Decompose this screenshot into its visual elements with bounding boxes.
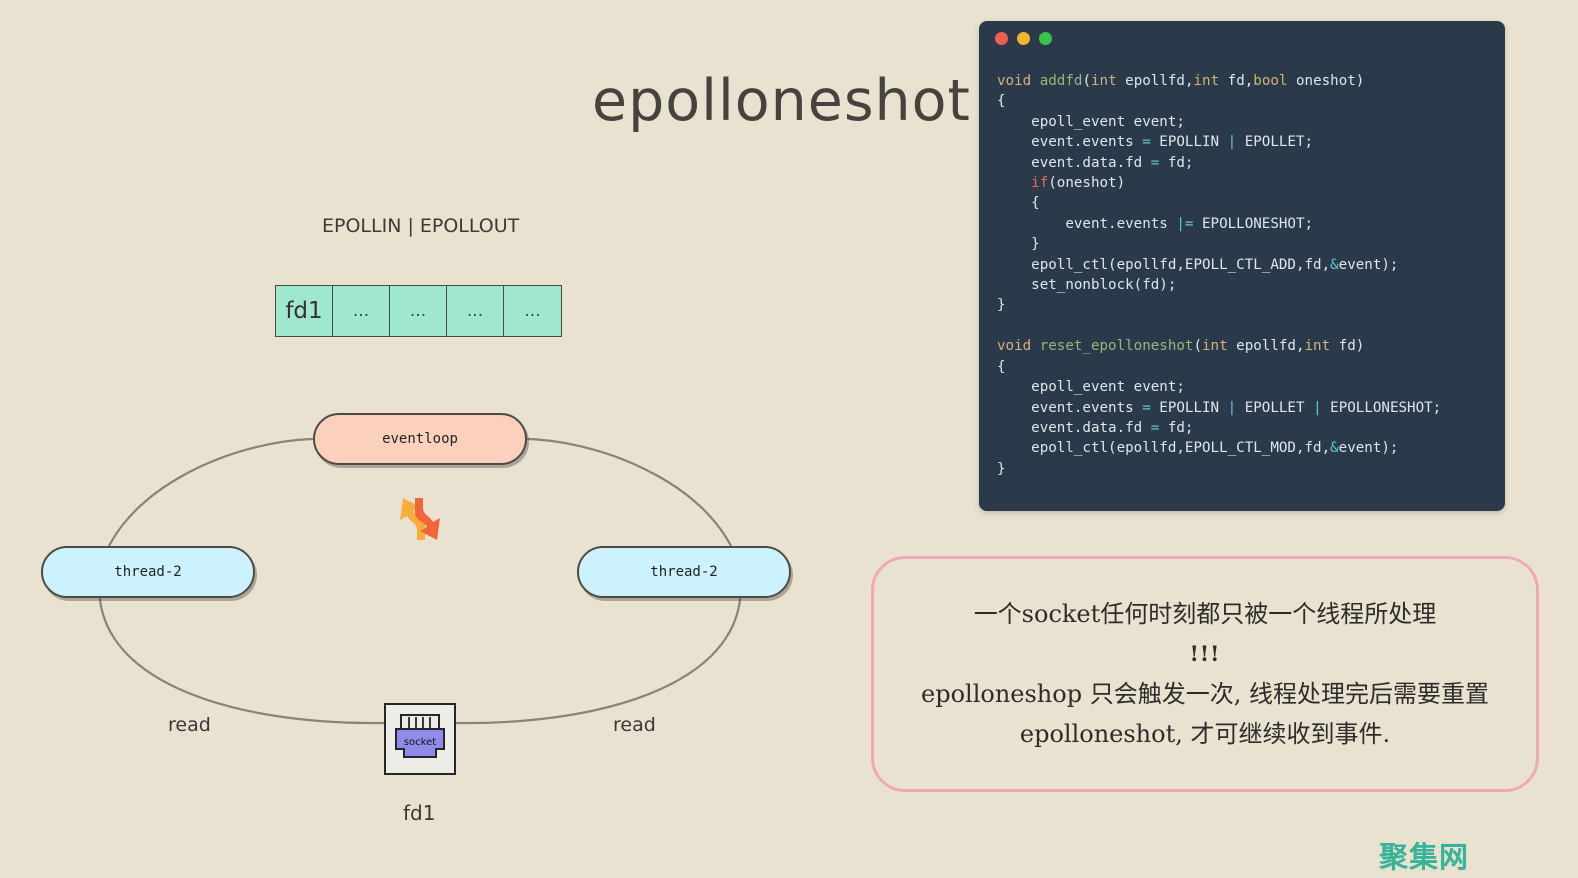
edge-label-read-right: read bbox=[613, 714, 656, 736]
fd-array-cell: ... bbox=[333, 286, 390, 336]
fd-array-cell: ... bbox=[447, 286, 504, 336]
code-line: } bbox=[997, 459, 1505, 479]
fd-array-cell: ... bbox=[390, 286, 447, 336]
code-line: event.data.fd = fd; bbox=[997, 418, 1505, 438]
maximize-button[interactable] bbox=[1039, 32, 1052, 45]
page-title: epolloneshot bbox=[592, 68, 971, 134]
node-thread-left[interactable]: thread-2 bbox=[41, 546, 255, 598]
code-line: epoll_ctl(epollfd,EPOLL_CTL_ADD,fd,&even… bbox=[997, 255, 1505, 275]
node-eventloop[interactable]: eventloop bbox=[313, 413, 527, 465]
code-line: event.events = EPOLLIN | EPOLLET; bbox=[997, 132, 1505, 152]
code-window: void addfd(int epollfd,int fd,bool onesh… bbox=[979, 21, 1505, 511]
socket-caption: fd1 bbox=[403, 801, 435, 825]
watermark: 聚集网 bbox=[1379, 834, 1469, 876]
code-line: } bbox=[997, 234, 1505, 254]
code-line: } bbox=[997, 295, 1505, 315]
note-line-4: epolloneshot, 才可继续收到事件. bbox=[1020, 717, 1390, 751]
fd-array-cell: fd1 bbox=[276, 286, 333, 336]
code-line: { bbox=[997, 357, 1505, 377]
note-line-1: 一个socket任何时刻都只被一个线程所处理 bbox=[974, 597, 1437, 631]
fd-array-cell: ... bbox=[504, 286, 561, 336]
fd-array: fd1............ bbox=[275, 285, 562, 337]
code-window-titlebar bbox=[979, 21, 1505, 55]
close-button[interactable] bbox=[995, 32, 1008, 45]
note-line-3: epolloneshop 只会触发一次, 线程处理完后需要重置 bbox=[921, 677, 1489, 711]
node-thread-right[interactable]: thread-2 bbox=[577, 546, 791, 598]
code-line bbox=[997, 316, 1505, 336]
code-line: epoll_event event; bbox=[997, 377, 1505, 397]
socket-icon-text: socket bbox=[404, 737, 436, 748]
node-eventloop-label: eventloop bbox=[382, 431, 458, 447]
events-flags-label: EPOLLIN | EPOLLOUT bbox=[322, 215, 519, 237]
refresh-loop-icon bbox=[393, 492, 447, 546]
code-line: epoll_event event; bbox=[997, 112, 1505, 132]
node-thread-left-label: thread-2 bbox=[114, 564, 181, 580]
socket-icon[interactable]: socket bbox=[384, 703, 456, 775]
edge-label-read-left: read bbox=[168, 714, 211, 736]
code-line: set_nonblock(fd); bbox=[997, 275, 1505, 295]
code-line: if(oneshot) bbox=[997, 173, 1505, 193]
code-line: void reset_epolloneshot(int epollfd,int … bbox=[997, 336, 1505, 356]
minimize-button[interactable] bbox=[1017, 32, 1030, 45]
cycle-diagram: eventloop thread-2 thread-2 bbox=[0, 380, 840, 850]
code-line: event.events |= EPOLLONESHOT; bbox=[997, 214, 1505, 234]
note-line-2: !!! bbox=[1190, 637, 1221, 671]
code-body: void addfd(int epollfd,int fd,bool onesh… bbox=[979, 55, 1505, 479]
code-line: { bbox=[997, 193, 1505, 213]
code-line: void addfd(int epollfd,int fd,bool onesh… bbox=[997, 71, 1505, 91]
code-line: epoll_ctl(epollfd,EPOLL_CTL_MOD,fd,&even… bbox=[997, 438, 1505, 458]
node-thread-right-label: thread-2 bbox=[650, 564, 717, 580]
note-box: 一个socket任何时刻都只被一个线程所处理 !!! epolloneshop … bbox=[871, 556, 1539, 792]
code-line: event.data.fd = fd; bbox=[997, 153, 1505, 173]
code-line: { bbox=[997, 91, 1505, 111]
code-line: event.events = EPOLLIN | EPOLLET | EPOLL… bbox=[997, 398, 1505, 418]
